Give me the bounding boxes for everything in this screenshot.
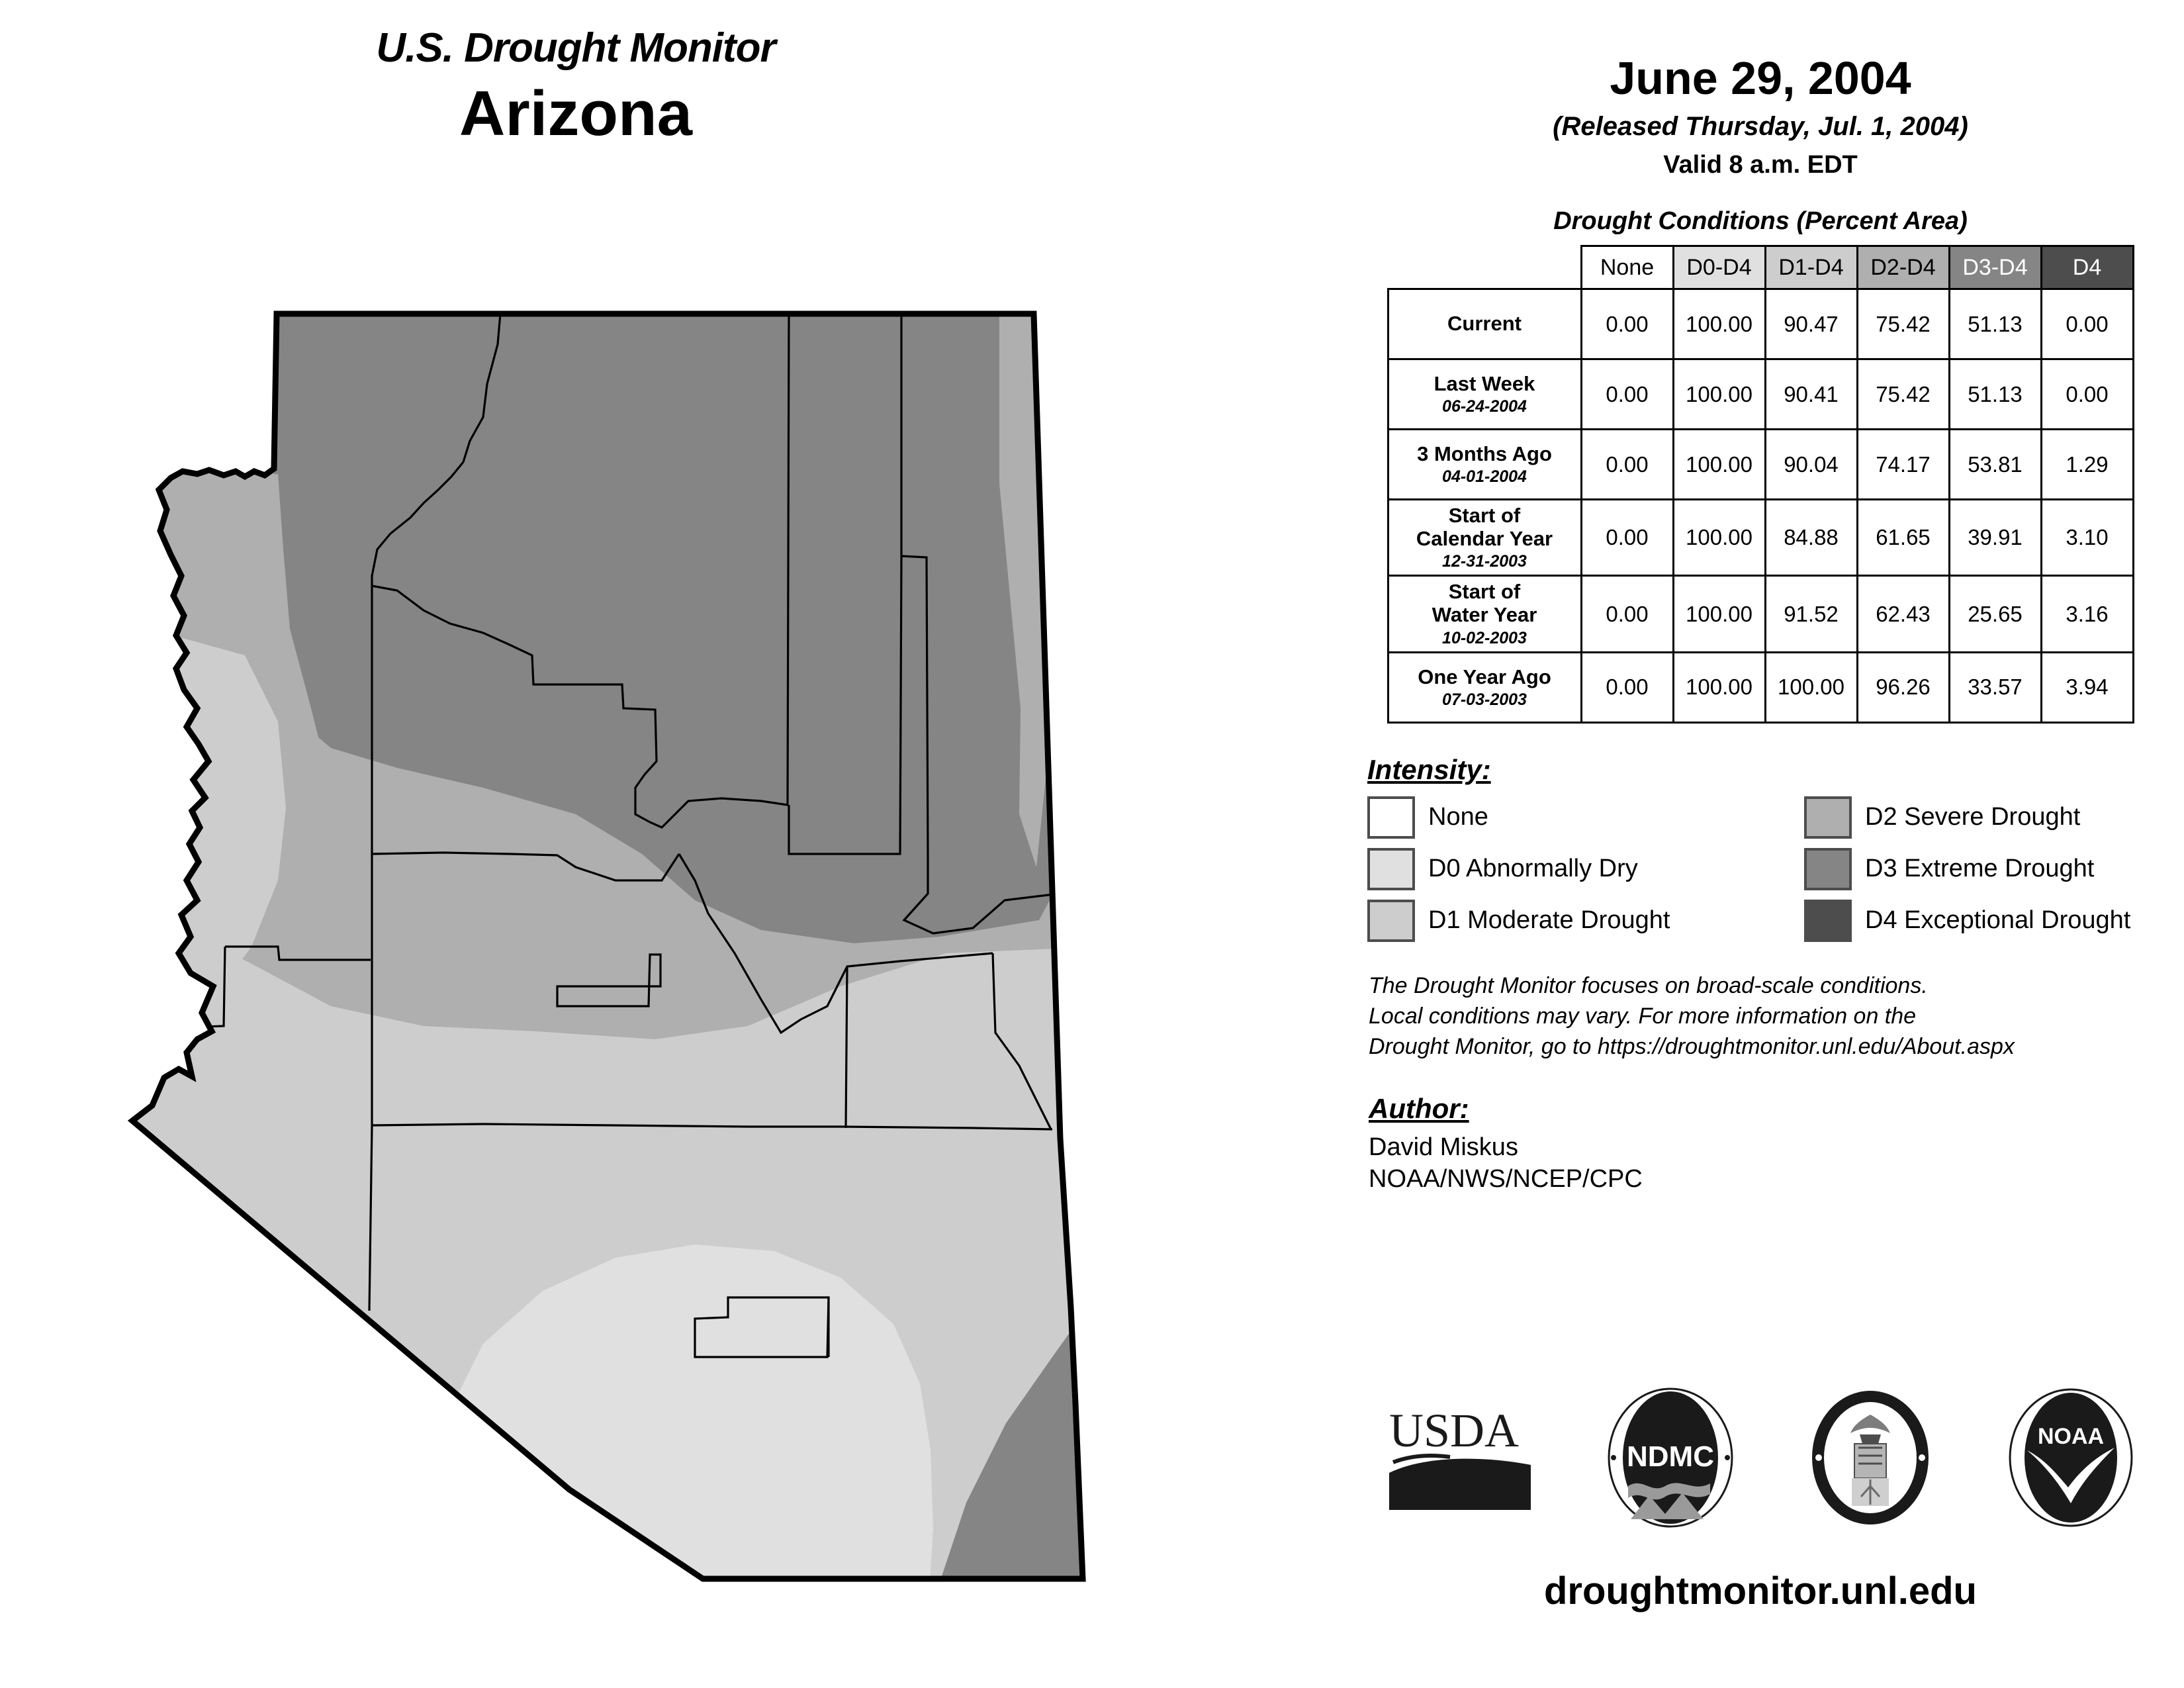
author-agency: NOAA/NWS/NCEP/CPC <box>1369 1163 2184 1196</box>
cell-none: 0.00 <box>1581 359 1673 430</box>
column-header-d3-d4: D3-D4 <box>1949 246 2041 289</box>
legend-swatch <box>1804 848 1852 890</box>
row-header: Current <box>1388 289 1581 359</box>
row-header: Last Week06-24-2004 <box>1388 359 1581 430</box>
legend-swatch <box>1367 900 1415 942</box>
row-date: 04-01-2004 <box>1392 467 1578 486</box>
valid-time: Valid 8 a.m. EDT <box>1337 151 2184 179</box>
legend-item-d0[interactable]: D0 Abnormally Dry <box>1367 848 1804 890</box>
row-date: 07-03-2003 <box>1392 690 1578 709</box>
legend-swatch <box>1804 796 1852 839</box>
cell-d4: 1.29 <box>2041 430 2133 500</box>
column-header-none: None <box>1581 246 1673 289</box>
legend-swatch <box>1804 900 1852 942</box>
cell-d0-d4: 100.00 <box>1673 359 1765 430</box>
info-panel: June 29, 2004 (Released Thursday, Jul. 1… <box>1337 0 2184 1688</box>
arizona-drought-map[interactable] <box>113 285 1330 1582</box>
cell-d3-d4: 33.57 <box>1949 652 2041 722</box>
cell-d4: 0.00 <box>2041 289 2133 359</box>
cell-d4: 3.10 <box>2041 500 2133 576</box>
svg-text:NDMC: NDMC <box>1627 1440 1714 1473</box>
cell-d2-d4: 62.43 <box>1857 576 1949 652</box>
noaa-logo: NOAA <box>2005 1387 2137 1532</box>
disclaimer-note: The Drought Monitor focuses on broad-sca… <box>1369 971 2184 1062</box>
legend-grid: NoneD2 Severe DroughtD0 Abnormally DryD3… <box>1367 796 2184 942</box>
logo-row: USDA NDMC <box>1350 1383 2171 1536</box>
row-header: One Year Ago07-03-2003 <box>1388 652 1581 722</box>
cell-d1-d4: 90.41 <box>1765 359 1857 430</box>
cell-d2-d4: 75.42 <box>1857 359 1949 430</box>
row-header: 3 Months Ago04-01-2004 <box>1388 430 1581 500</box>
legend-item-d3[interactable]: D3 Extreme Drought <box>1804 848 2184 890</box>
drought-conditions-table: NoneD0-D4D1-D4D2-D4D3-D4D4 Current0.0010… <box>1387 245 2134 724</box>
legend-item-none[interactable]: None <box>1367 796 1804 839</box>
note-line: Drought Monitor, go to https://droughtmo… <box>1369 1032 2184 1062</box>
legend-label: D4 Exceptional Drought <box>1865 906 2130 935</box>
table-row: Start ofWater Year10-02-20030.00100.0091… <box>1388 576 2133 652</box>
author-name: David Miskus <box>1369 1131 2184 1164</box>
column-header-d0-d4: D0-D4 <box>1673 246 1765 289</box>
row-date: 06-24-2004 <box>1392 397 1578 416</box>
legend-label: None <box>1428 803 1488 831</box>
cell-d0-d4: 100.00 <box>1673 652 1765 722</box>
svg-text:USDA: USDA <box>1389 1404 1519 1457</box>
cell-d4: 3.94 <box>2041 652 2133 722</box>
svg-text:NOAA: NOAA <box>2038 1424 2104 1449</box>
cell-none: 0.00 <box>1581 289 1673 359</box>
author-label: Author: <box>1369 1093 2184 1125</box>
cell-d2-d4: 75.42 <box>1857 289 1949 359</box>
doc-seal-logo <box>1804 1387 1936 1532</box>
table-header-row: NoneD0-D4D1-D4D2-D4D3-D4D4 <box>1388 246 2133 289</box>
cell-d3-d4: 51.13 <box>1949 359 2041 430</box>
cell-d2-d4: 96.26 <box>1857 652 1949 722</box>
ndmc-logo: NDMC <box>1604 1387 1737 1532</box>
cell-none: 0.00 <box>1581 430 1673 500</box>
column-header-d4: D4 <box>2041 246 2133 289</box>
release-date: (Released Thursday, Jul. 1, 2004) <box>1337 112 2184 142</box>
state-title: Arizona <box>0 79 1152 149</box>
table-body: Current0.00100.0090.4775.4251.130.00Last… <box>1388 289 2133 723</box>
cell-d3-d4: 39.91 <box>1949 500 2041 576</box>
column-header-d2-d4: D2-D4 <box>1857 246 1949 289</box>
cell-d1-d4: 100.00 <box>1765 652 1857 722</box>
cell-d2-d4: 74.17 <box>1857 430 1949 500</box>
cell-d0-d4: 100.00 <box>1673 576 1765 652</box>
date-block: June 29, 2004 (Released Thursday, Jul. 1… <box>1337 0 2184 179</box>
cell-d0-d4: 100.00 <box>1673 500 1765 576</box>
table-row: 3 Months Ago04-01-20040.00100.0090.0474.… <box>1388 430 2133 500</box>
report-date: June 29, 2004 <box>1337 53 2184 104</box>
table-row: One Year Ago07-03-20030.00100.00100.0096… <box>1388 652 2133 722</box>
map-svg <box>113 285 1330 1582</box>
row-header: Start ofWater Year10-02-2003 <box>1388 576 1581 652</box>
title-block: U.S. Drought Monitor Arizona <box>0 26 1152 149</box>
cell-d3-d4: 25.65 <box>1949 576 2041 652</box>
cell-none: 0.00 <box>1581 576 1673 652</box>
legend-swatch <box>1367 848 1415 890</box>
cell-d4: 0.00 <box>2041 359 2133 430</box>
footer-url[interactable]: droughtmonitor.unl.edu <box>1337 1569 2184 1613</box>
column-header-d1-d4: D1-D4 <box>1765 246 1857 289</box>
author-block: David Miskus NOAA/NWS/NCEP/CPC <box>1369 1131 2184 1196</box>
legend-label: D3 Extreme Drought <box>1865 855 2094 883</box>
table-row: Start ofCalendar Year12-31-20030.00100.0… <box>1388 500 2133 576</box>
cell-d0-d4: 100.00 <box>1673 430 1765 500</box>
table-caption: Drought Conditions (Percent Area) <box>1337 207 2184 236</box>
cell-d1-d4: 90.47 <box>1765 289 1857 359</box>
table-row: Current0.00100.0090.4775.4251.130.00 <box>1388 289 2133 359</box>
legend-label: D0 Abnormally Dry <box>1428 855 1638 883</box>
cell-d0-d4: 100.00 <box>1673 289 1765 359</box>
legend-item-d4[interactable]: D4 Exceptional Drought <box>1804 900 2184 942</box>
page-title: U.S. Drought Monitor <box>0 26 1152 70</box>
cell-d1-d4: 90.04 <box>1765 430 1857 500</box>
legend: Intensity: NoneD2 Severe DroughtD0 Abnor… <box>1367 754 2184 942</box>
row-date: 10-02-2003 <box>1392 629 1578 647</box>
table-corner-cell <box>1388 246 1581 289</box>
note-line: The Drought Monitor focuses on broad-sca… <box>1369 971 2184 1002</box>
cell-none: 0.00 <box>1581 652 1673 722</box>
row-header: Start ofCalendar Year12-31-2003 <box>1388 500 1581 576</box>
cell-d3-d4: 53.81 <box>1949 430 2041 500</box>
cell-d4: 3.16 <box>2041 576 2133 652</box>
usda-logo: USDA <box>1384 1399 1536 1521</box>
note-line: Local conditions may vary. For more info… <box>1369 1002 2184 1032</box>
legend-swatch <box>1367 796 1415 839</box>
legend-title: Intensity: <box>1367 754 2184 786</box>
cell-d2-d4: 61.65 <box>1857 500 1949 576</box>
legend-item-d1[interactable]: D1 Moderate Drought <box>1367 900 1804 942</box>
legend-item-d2[interactable]: D2 Severe Drought <box>1804 796 2184 839</box>
cell-none: 0.00 <box>1581 500 1673 576</box>
legend-label: D2 Severe Drought <box>1865 803 2080 831</box>
cell-d1-d4: 91.52 <box>1765 576 1857 652</box>
legend-label: D1 Moderate Drought <box>1428 906 1670 935</box>
table-row: Last Week06-24-20040.00100.0090.4175.425… <box>1388 359 2133 430</box>
map-panel: U.S. Drought Monitor Arizona <box>0 0 1337 1688</box>
cell-d3-d4: 51.13 <box>1949 289 2041 359</box>
row-date: 12-31-2003 <box>1392 552 1578 571</box>
cell-d1-d4: 84.88 <box>1765 500 1857 576</box>
